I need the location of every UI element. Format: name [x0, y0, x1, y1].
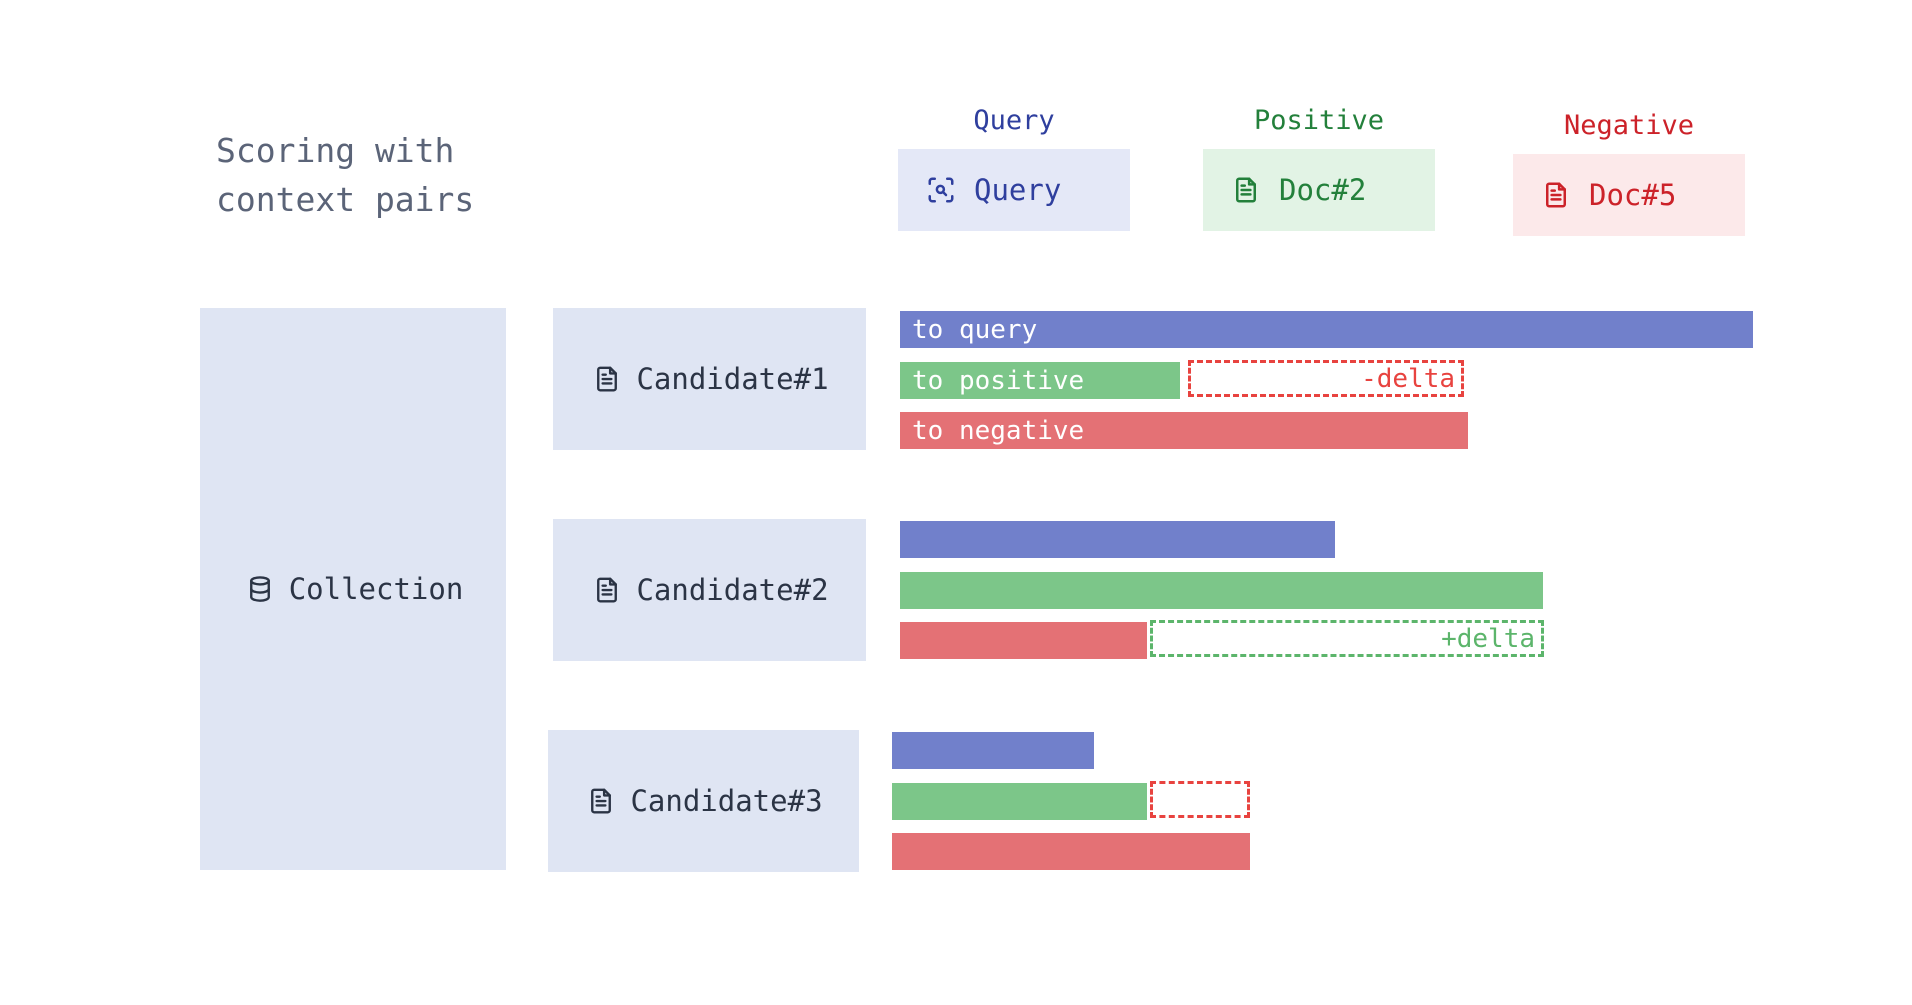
collection-inner: Collection	[243, 572, 464, 606]
bar-negative-2	[900, 622, 1147, 659]
chip-box-positive[interactable]: Doc#2	[1203, 149, 1435, 231]
card-inner: Candidate#3	[584, 784, 822, 818]
document-icon	[1539, 178, 1573, 212]
bar-label-negative: to negative	[900, 416, 1084, 446]
collection-label: Collection	[289, 572, 464, 606]
header-chip-query[interactable]: Query Query	[898, 105, 1130, 231]
candidate-card-2[interactable]: Candidate#2	[553, 519, 866, 661]
delta-label-2: +delta	[1441, 624, 1541, 654]
document-icon	[590, 573, 624, 607]
card-inner: Candidate#2	[590, 573, 828, 607]
diagram-canvas: Scoring with context pairs Query Query P…	[0, 0, 1912, 1005]
chip-box-query[interactable]: Query	[898, 149, 1130, 231]
chip-caption-positive: Positive	[1203, 105, 1435, 137]
header-chip-negative[interactable]: Negative Doc#5	[1513, 110, 1745, 236]
candidate-label: Candidate#1	[636, 362, 828, 396]
bar-positive-2	[900, 572, 1543, 609]
candidate-label: Candidate#2	[636, 573, 828, 607]
page-title: Scoring with context pairs	[216, 126, 636, 224]
bar-negative-1: to negative	[900, 412, 1468, 449]
bar-label-positive: to positive	[900, 366, 1084, 396]
document-icon	[584, 784, 618, 818]
delta-box-1: -delta	[1188, 360, 1464, 397]
chip-label-positive: Doc#2	[1279, 173, 1366, 207]
chip-label-negative: Doc#5	[1589, 178, 1676, 212]
bar-positive-3	[892, 783, 1147, 820]
delta-label-1: -delta	[1361, 364, 1461, 394]
candidate-card-1[interactable]: Candidate#1	[553, 308, 866, 450]
bar-query-2	[900, 521, 1335, 558]
scan-search-icon	[924, 173, 958, 207]
chip-caption-negative: Negative	[1513, 110, 1745, 142]
bar-label-query: to query	[900, 315, 1037, 345]
delta-box-3	[1150, 781, 1250, 818]
bar-negative-3	[892, 833, 1250, 870]
document-icon	[590, 362, 624, 396]
chip-label-query: Query	[974, 173, 1061, 207]
delta-box-2: +delta	[1150, 620, 1544, 657]
bar-query-3	[892, 732, 1094, 769]
chip-caption-query: Query	[898, 105, 1130, 137]
collection-panel[interactable]: Collection	[200, 308, 506, 870]
header-chip-positive[interactable]: Positive Doc#2	[1203, 105, 1435, 231]
candidate-label: Candidate#3	[630, 784, 822, 818]
bar-positive-1: to positive	[900, 362, 1180, 399]
card-inner: Candidate#1	[590, 362, 828, 396]
database-icon	[243, 572, 277, 606]
document-icon	[1229, 173, 1263, 207]
bar-query-1: to query	[900, 311, 1753, 348]
chip-box-negative[interactable]: Doc#5	[1513, 154, 1745, 236]
candidate-card-3[interactable]: Candidate#3	[548, 730, 859, 872]
